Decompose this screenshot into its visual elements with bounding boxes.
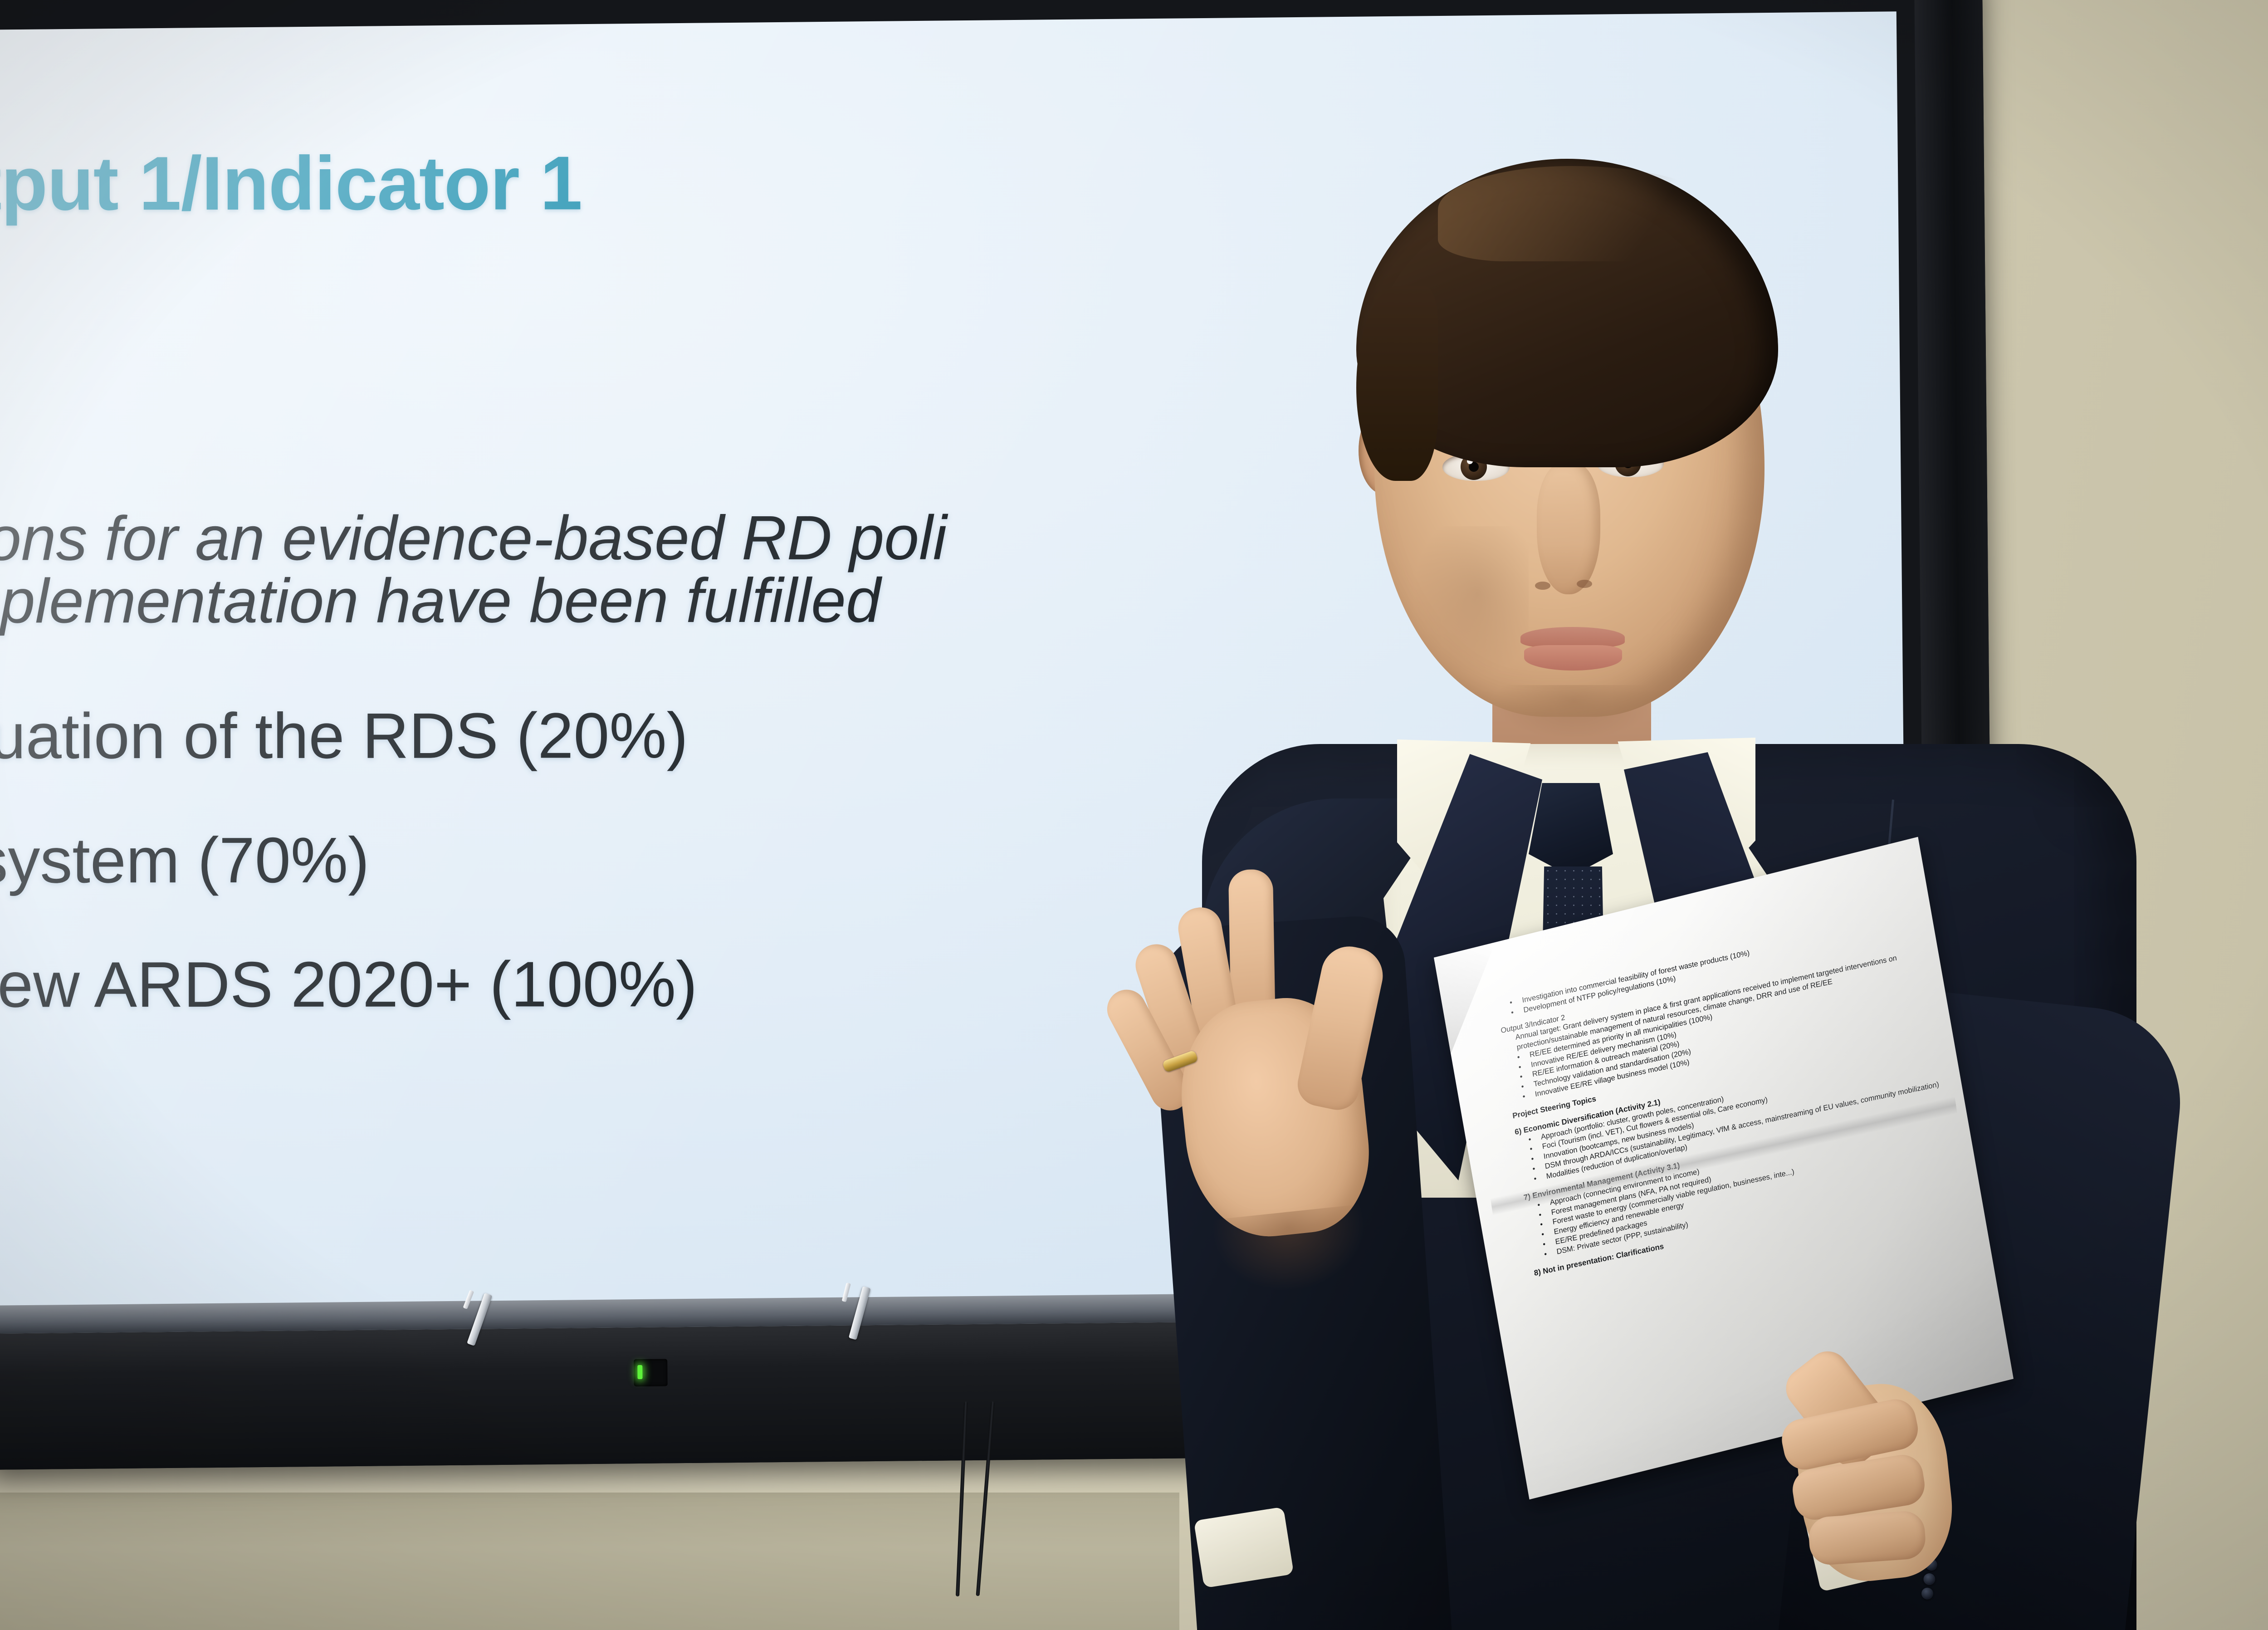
hair-highlight [1438, 166, 1728, 261]
wrist-shading [1212, 1204, 1369, 1297]
slide-title: Output 1/Indicator 1 [0, 139, 582, 227]
ring-finger [1808, 1510, 1927, 1566]
photo-scene: Output 1/Indicator 1 uet nditions for an… [0, 0, 2268, 1630]
nostril-right [1577, 580, 1592, 588]
power-led-icon [637, 1365, 642, 1379]
shirt-cuff-left [1193, 1507, 1294, 1588]
lower-lip [1524, 645, 1622, 671]
raised-open-hand [1107, 833, 1465, 1272]
holding-hand [1730, 1316, 2044, 1630]
chin-shading [1492, 685, 1656, 739]
nose [1537, 463, 1600, 594]
nostril-left [1535, 582, 1550, 590]
hair-sideburn [1356, 286, 1438, 481]
cheek-shading [1415, 526, 1529, 676]
presenter: Investigation into commercial feasibilit… [1039, 150, 2241, 1630]
wall-lower-section [0, 1493, 1179, 1630]
handout-text: Investigation into commercial feasibilit… [1497, 906, 1991, 1279]
